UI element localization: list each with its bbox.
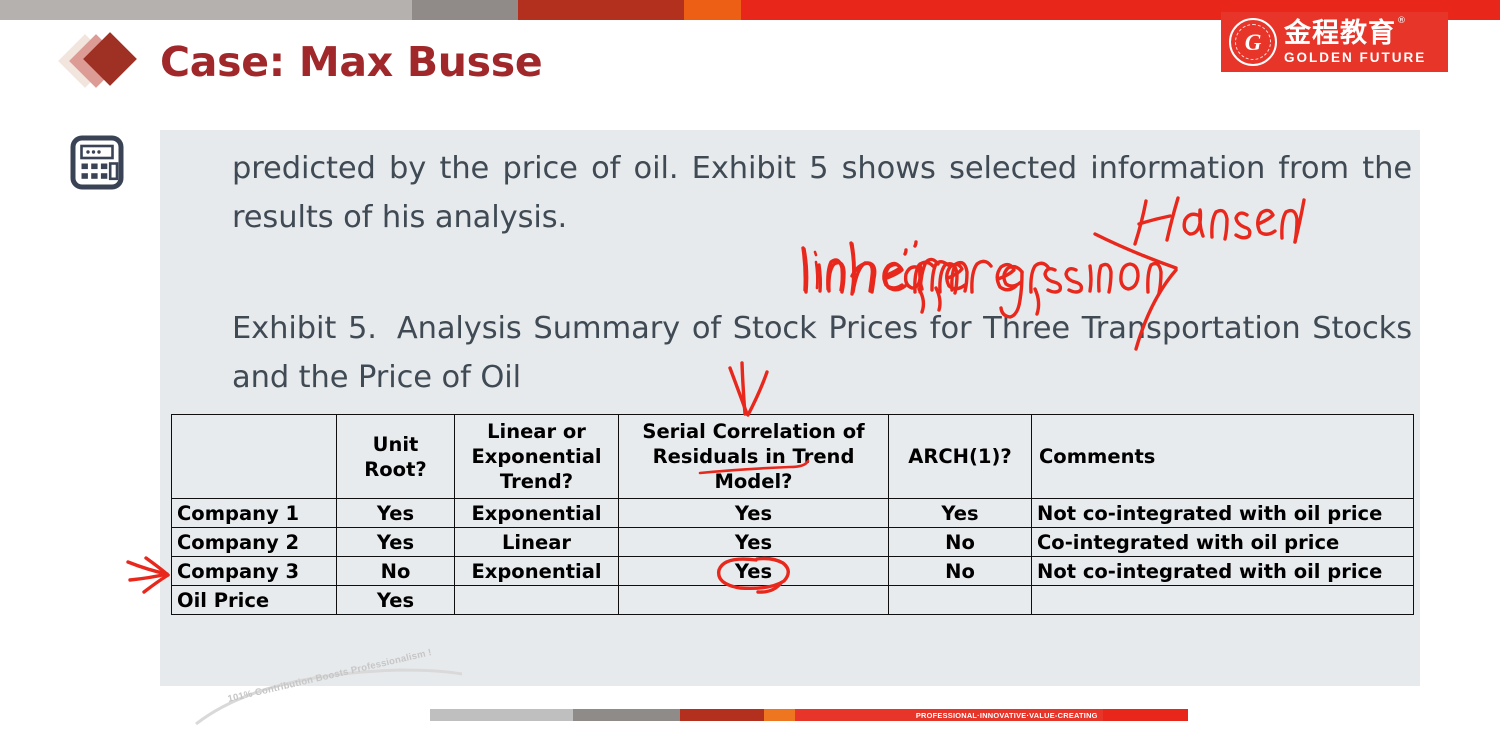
brand-name-cn: 金程教育 ® (1284, 20, 1396, 47)
footer-bar-segment-3 (680, 709, 763, 721)
page-title: Case: Max Busse (160, 38, 542, 86)
brand-seal-icon: G (1229, 18, 1277, 66)
row-label: Company 3 (172, 557, 337, 586)
footer-color-bar: PROFESSIONAL·INNOVATIVE·VALUE-CREATING (430, 709, 1188, 721)
cell-unit-root: No (337, 557, 455, 586)
cell-comment: Co-integrated with oil price (1032, 528, 1414, 557)
cell-comment: Not co-integrated with oil price (1032, 499, 1414, 528)
table-header-serial-correlation: Serial Correlation of Residuals in Trend… (619, 415, 889, 499)
cell-trend: Linear (455, 528, 619, 557)
table-row: Company 3NoExponentialYesNoNot co-integr… (172, 557, 1414, 586)
cell-trend: Exponential (455, 557, 619, 586)
cell-serial-correlation (619, 586, 889, 615)
brand-name-en: GOLDEN FUTURE (1284, 51, 1426, 65)
cell-serial-correlation: Yes (619, 557, 889, 586)
table-header-trend: Linear or Exponential Trend? (455, 415, 619, 499)
cell-unit-root: Yes (337, 586, 455, 615)
table-header-comments: Comments (1032, 415, 1414, 499)
registered-mark: ® (1397, 17, 1407, 26)
footer-bar-segment-1 (430, 709, 573, 721)
calculator-icon[interactable] (70, 135, 124, 190)
cell-trend (455, 586, 619, 615)
exhibit-caption: Exhibit 5.Analysis Summary of Stock Pric… (232, 304, 1412, 402)
footer-bar-segment-4 (764, 709, 795, 721)
cell-arch: Yes (889, 499, 1032, 528)
top-bar-segment-1 (0, 0, 412, 20)
cell-arch: No (889, 528, 1032, 557)
row-label: Oil Price (172, 586, 337, 615)
table-row: Oil PriceYes (172, 586, 1414, 615)
exhibit-table: Unit Root? Linear or Exponential Trend? … (171, 414, 1414, 615)
table-header-arch: ARCH(1)? (889, 415, 1032, 499)
brand-name-cn-text: 金程教育 (1284, 18, 1396, 49)
top-bar-segment-2 (412, 0, 518, 20)
seal-glyph: G (1245, 31, 1262, 54)
table-header-row: Unit Root? Linear or Exponential Trend? … (172, 415, 1414, 499)
row-label: Company 2 (172, 528, 337, 557)
cell-comment: Not co-integrated with oil price (1032, 557, 1414, 586)
cell-serial-correlation: Yes (619, 499, 889, 528)
brand-logo: G 金程教育 ® GOLDEN FUTURE (1221, 12, 1448, 72)
footer-bar-segment-5 (795, 709, 911, 721)
slide-canvas: G 金程教育 ® GOLDEN FUTURE Case: Max Busse (0, 0, 1500, 750)
exhibit-title: Analysis Summary of Stock Prices for Thr… (232, 311, 1412, 395)
cell-arch: No (889, 557, 1032, 586)
cell-trend: Exponential (455, 499, 619, 528)
top-bar-segment-4 (684, 0, 741, 20)
cell-comment (1032, 586, 1414, 615)
table-header-unit-root: Unit Root? (337, 415, 455, 499)
cell-unit-root: Yes (337, 499, 455, 528)
cell-arch (889, 586, 1032, 615)
exhibit-label: Exhibit 5. (232, 311, 377, 346)
row-label: Company 1 (172, 499, 337, 528)
diamond-logo-icon (66, 36, 150, 94)
cell-serial-correlation: Yes (619, 528, 889, 557)
footer-bar-tail-segment-1 (1103, 709, 1188, 721)
table-header-blank (172, 415, 337, 499)
footer-tagline: PROFESSIONAL·INNOVATIVE·VALUE-CREATING (911, 709, 1103, 721)
footer-bar-segment-2 (573, 709, 680, 721)
top-bar-segment-3 (518, 0, 684, 20)
table-row: Company 2YesLinearYesNoCo-integrated wit… (172, 528, 1414, 557)
table-row: Company 1YesExponentialYesYesNot co-inte… (172, 499, 1414, 528)
paragraph-intro: predicted by the price of oil. Exhibit 5… (232, 144, 1412, 242)
brand-text: 金程教育 ® GOLDEN FUTURE (1284, 20, 1426, 65)
cell-unit-root: Yes (337, 528, 455, 557)
